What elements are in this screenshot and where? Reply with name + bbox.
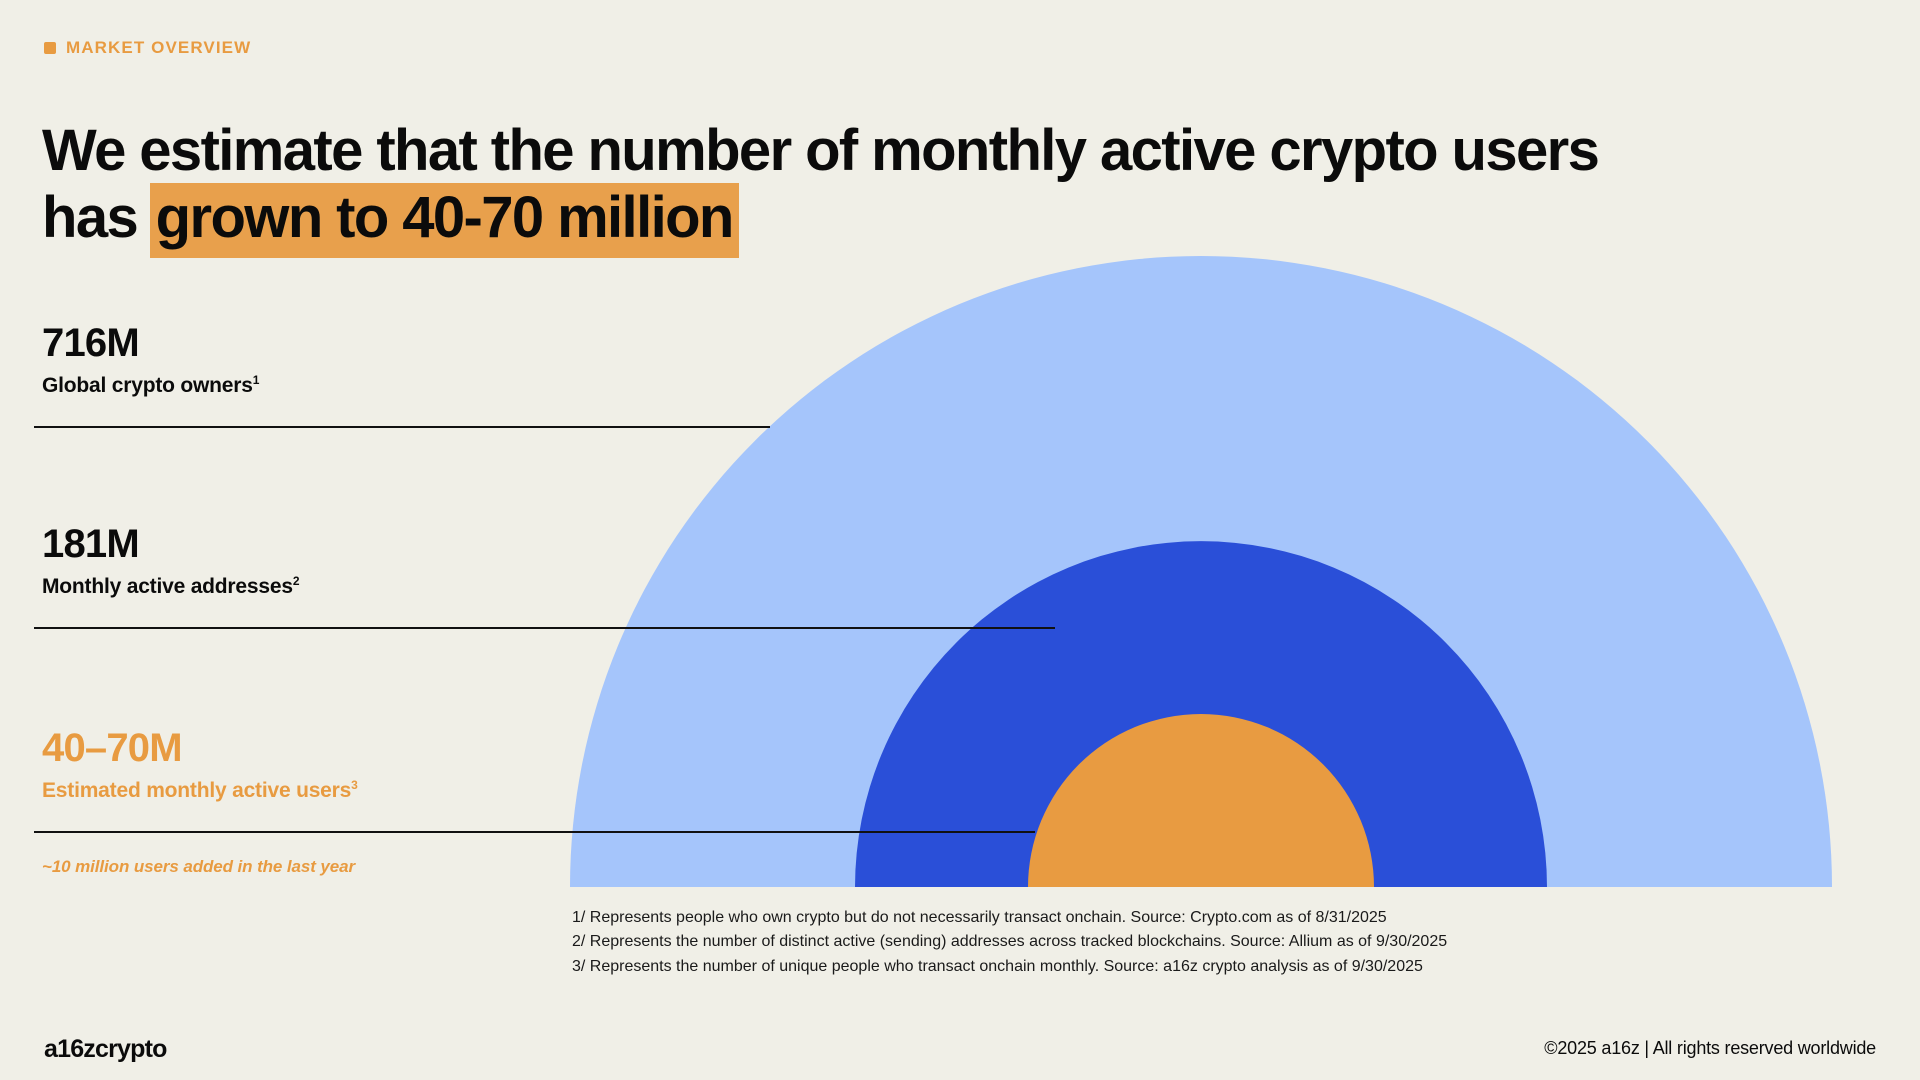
footnote-marker: 3 <box>351 778 357 792</box>
stat-label: Monthly active addresses2 <box>42 575 299 599</box>
leader-line-3 <box>34 831 1035 833</box>
infographic-page: MARKET OVERVIEW We estimate that the num… <box>0 0 1920 1080</box>
stat-monthly-active-addresses: 181M Monthly active addresses2 <box>42 523 299 599</box>
footnote-marker: 1 <box>253 373 259 387</box>
stat-label-text: Estimated monthly active users <box>42 779 351 802</box>
leader-line-1 <box>34 426 770 428</box>
stat-note-users-added: ~10 million users added in the last year <box>42 857 355 877</box>
stat-value: 716M <box>42 322 259 364</box>
leader-line-2 <box>34 627 1055 629</box>
chart-arc-global-crypto-owners <box>570 256 1832 887</box>
kicker: MARKET OVERVIEW <box>44 38 251 58</box>
copyright-text: ©2025 a16z | All rights reserved worldwi… <box>1544 1038 1876 1059</box>
stat-label-text: Global crypto owners <box>42 374 253 397</box>
page-title: We estimate that the number of monthly a… <box>42 117 1742 252</box>
headline-prefix: has <box>42 185 152 250</box>
stat-global-crypto-owners: 716M Global crypto owners1 <box>42 322 259 398</box>
chart-arc-monthly-active-addresses <box>855 541 1547 887</box>
stat-label-text: Monthly active addresses <box>42 575 293 598</box>
a16zcrypto-logo: a16zcrypto <box>44 1035 167 1064</box>
stat-value: 181M <box>42 523 299 565</box>
headline-highlight: grown to 40-70 million <box>150 183 739 258</box>
stat-estimated-monthly-active-users: 40–70M Estimated monthly active users3 <box>42 727 358 803</box>
stat-label: Global crypto owners1 <box>42 374 259 398</box>
headline-line-2: has grown to 40-70 million <box>42 184 1742 251</box>
footnote-3: 3/ Represents the number of unique peopl… <box>572 955 1447 979</box>
footnote-marker: 2 <box>293 574 299 588</box>
footnotes: 1/ Represents people who own crypto but … <box>572 906 1447 979</box>
headline-line-1: We estimate that the number of monthly a… <box>42 117 1742 184</box>
stat-value: 40–70M <box>42 727 358 769</box>
kicker-label: MARKET OVERVIEW <box>66 38 251 58</box>
footnote-2: 2/ Represents the number of distinct act… <box>572 930 1447 954</box>
stat-label: Estimated monthly active users3 <box>42 779 358 803</box>
chart-arc-estimated-monthly-active-users <box>1028 714 1374 887</box>
square-bullet-icon <box>44 42 56 54</box>
footnote-1: 1/ Represents people who own crypto but … <box>572 906 1447 930</box>
